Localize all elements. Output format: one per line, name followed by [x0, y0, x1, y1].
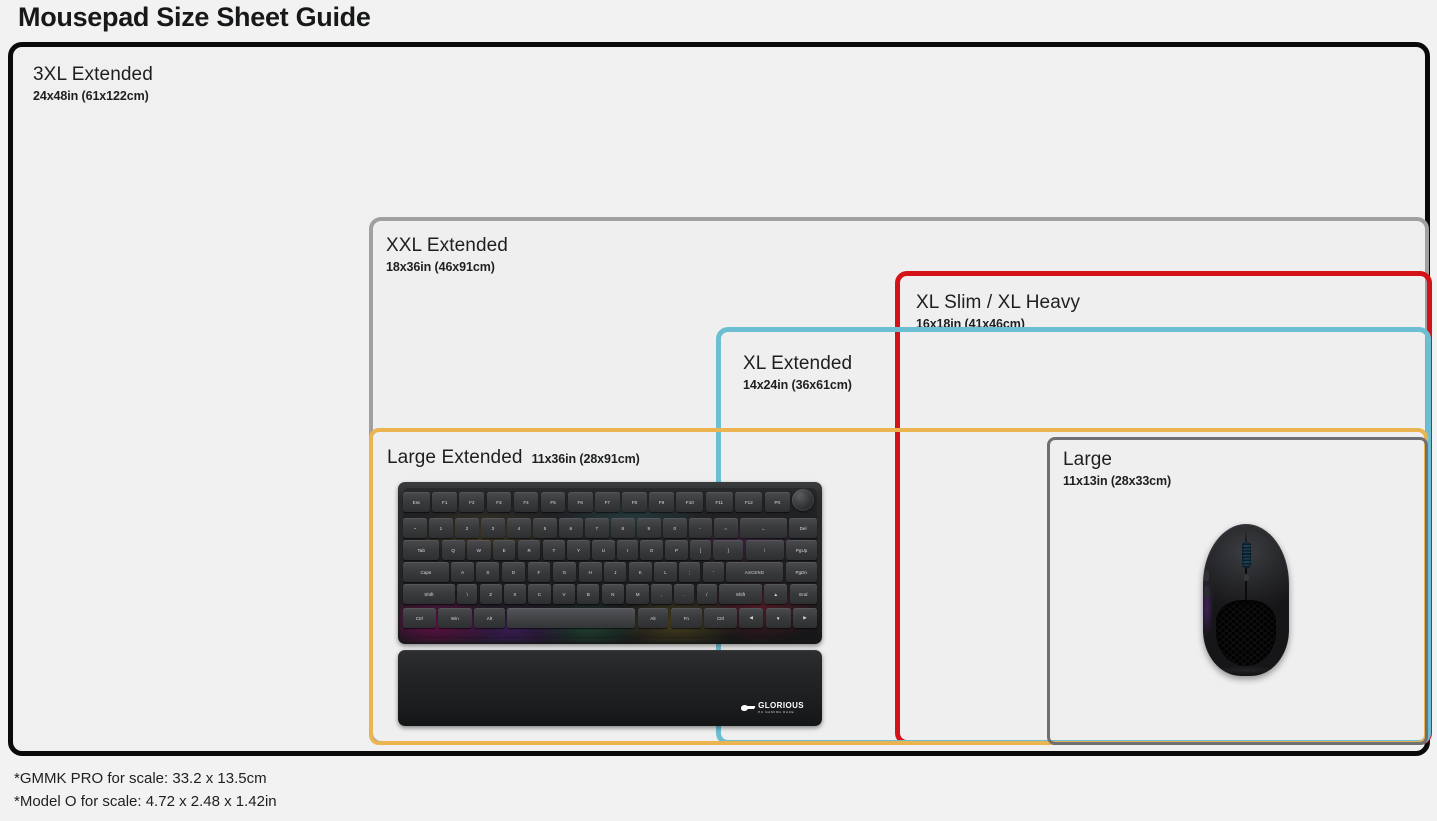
mouse-side-button-back [1204, 586, 1209, 597]
keyboard-key: M [626, 584, 649, 604]
keyboard-key: ; [679, 562, 700, 582]
pad-name-xl-slim-xl-heavy: XL Slim / XL Heavy [916, 293, 1080, 313]
keyboard-body: EscF1F2F3F4F5F6F7F8F9F10F11F12Prt~123456… [398, 482, 822, 644]
wrist-rest: GLORIOUS PC GAMING RACE [398, 650, 822, 726]
keyboard-key: I [617, 540, 638, 560]
pad-dimensions-large-extended: 11x36in (28x91cm) [532, 452, 640, 466]
keyboard-key: S [476, 562, 499, 582]
keyboard-key: Tab [403, 540, 439, 560]
pad-label-large-extended: Large Extended11x36in (28x91cm) [387, 448, 640, 468]
mouse-side-button-forward [1204, 570, 1209, 581]
keyboard-row-2: ~1234567890-=←Del [403, 518, 817, 538]
keyboard-key: PgDn [786, 562, 817, 582]
keyboard-key: U [592, 540, 615, 560]
keyboard-key: ~ [403, 518, 427, 538]
keyboard-key: Caps [403, 562, 449, 582]
keyboard-key: J [604, 562, 626, 582]
keyboard-key: Esc [403, 492, 430, 512]
pad-name-large: Large [1063, 450, 1171, 470]
pad-label-xl-slim-xl-heavy: XL Slim / XL Heavy 16x18in (41x46cm) [916, 293, 1080, 331]
keyboard-key: 3 [481, 518, 505, 538]
keyboard-key: F11 [706, 492, 733, 512]
keyboard-key: 8 [611, 518, 635, 538]
keyboard-key: Del [789, 518, 817, 538]
keyboard-key: F8 [622, 492, 647, 512]
keyboard-key: F12 [735, 492, 762, 512]
keyboard-key: End [790, 584, 817, 604]
pad-name-large-extended: Large Extended [387, 448, 523, 468]
keyboard-key: 7 [585, 518, 609, 538]
mouse-scroll-wheel-icon [1242, 542, 1251, 568]
keyboard-key: O [640, 540, 663, 560]
keyboard-key: Shift [403, 584, 455, 604]
keyboard-key: Win [438, 608, 471, 628]
keyboard-key: A [451, 562, 474, 582]
keyboard-key: Fn [671, 608, 702, 628]
pad-dimensions-large: 11x13in (28x33cm) [1063, 474, 1171, 488]
keyboard-key: F10 [676, 492, 703, 512]
keyboard-key: E [493, 540, 515, 560]
keyboard-key: Alt [474, 608, 505, 628]
keyboard-key: F2 [459, 492, 484, 512]
keyboard-key: 1 [429, 518, 453, 538]
gmmk-pro-keyboard-image: EscF1F2F3F4F5F6F7F8F9F10F11F12Prt~123456… [398, 482, 822, 732]
keyboard-row-5: Shift\ZXCVBNM,./Shift▲End [403, 584, 817, 604]
keyboard-key: ] [713, 540, 743, 560]
mouse-bottom-highlight [1211, 666, 1281, 674]
keyboard-key: - [689, 518, 712, 538]
keyboard-key: H [579, 562, 602, 582]
keyboard-key: , [651, 584, 671, 604]
keyboard-key: Ctrl [704, 608, 737, 628]
keyboard-row-3: TabQWERTYUIOP[]\PgUp [403, 540, 817, 560]
keyboard-key: C [528, 584, 550, 604]
keyboard-key: Ctrl [403, 608, 436, 628]
footnote-keyboard-scale: *GMMK PRO for scale: 33.2 x 13.5cm [14, 768, 277, 791]
keyboard-volume-knob-icon [792, 489, 814, 511]
keyboard-key: Alt [638, 608, 669, 628]
keyboard-key: = [714, 518, 738, 538]
keyboard-key: F9 [649, 492, 674, 512]
keyboard-key: Prt [765, 492, 790, 512]
keyboard-row-4: CapsASDFGHJKL;'ASCENDPgDn [403, 562, 817, 582]
keyboard-key: F1 [432, 492, 457, 512]
pad-name-3xl-extended: 3XL Extended [33, 65, 153, 85]
keyboard-key: F5 [541, 492, 566, 512]
keyboard-key: ← [740, 518, 787, 538]
pad-dimensions-xl-extended: 14x24in (36x61cm) [743, 378, 852, 392]
keyboard-key: Z [480, 584, 502, 604]
keyboard-key: 9 [637, 518, 661, 538]
pad-label-3xl-extended: 3XL Extended 24x48in (61x122cm) [33, 65, 153, 103]
keyboard-key: 0 [663, 518, 687, 538]
keyboard-key [507, 608, 635, 628]
keyboard-key: 6 [559, 518, 583, 538]
pad-dimensions-xxl-extended: 18x36in (46x91cm) [386, 260, 508, 274]
keyboard-key: D [502, 562, 525, 582]
keyboard-key: . [674, 584, 694, 604]
page-title: Mousepad Size Sheet Guide [18, 2, 371, 33]
mouse-honeycomb-shell [1216, 600, 1276, 666]
keyboard-key: Q [442, 540, 465, 560]
keyboard-key: \ [457, 584, 477, 604]
keyboard-key: F7 [595, 492, 620, 512]
keyboard-key: P [665, 540, 687, 560]
keyboard-key: F6 [568, 492, 593, 512]
keyboard-row-1: EscF1F2F3F4F5F6F7F8F9F10F11F12Prt [403, 492, 790, 512]
mouse-dpi-button [1244, 574, 1249, 581]
keyboard-key: PgUp [786, 540, 817, 560]
keyboard-key: W [467, 540, 491, 560]
footnote-mouse-scale: *Model O for scale: 4.72 x 2.48 x 1.42in [14, 791, 277, 814]
keyboard-key: F4 [514, 492, 539, 512]
keyboard-key: K [629, 562, 652, 582]
keyboard-key: T [543, 540, 565, 560]
keyboard-key: 2 [455, 518, 479, 538]
keyboard-key: F [528, 562, 551, 582]
keyboard-key: ◀ [739, 608, 763, 628]
pad-dimensions-3xl-extended: 24x48in (61x122cm) [33, 89, 153, 103]
pad-label-xxl-extended: XXL Extended 18x36in (46x91cm) [386, 236, 508, 274]
footnotes: *GMMK PRO for scale: 33.2 x 13.5cm *Mode… [14, 768, 277, 814]
pad-label-xl-extended: XL Extended 14x24in (36x61cm) [743, 354, 852, 392]
keyboard-key: 5 [533, 518, 557, 538]
keyboard-row-6: CtrlWinAltAltFnCtrl◀▼▶ [403, 608, 817, 628]
pad-name-xxl-extended: XXL Extended [386, 236, 508, 256]
keyboard-key: ASCEND [726, 562, 783, 582]
keyboard-key: L [654, 562, 677, 582]
keyboard-key: ' [703, 562, 724, 582]
keyboard-key: F3 [487, 492, 512, 512]
keyboard-key: Shift [719, 584, 761, 604]
keyboard-key: [ [690, 540, 711, 560]
pad-label-large: Large 11x13in (28x33cm) [1063, 450, 1171, 488]
keyboard-key: Y [567, 540, 589, 560]
glorious-mark-icon [741, 703, 755, 712]
glorious-logo-tagline: PC GAMING RACE [758, 711, 804, 714]
keyboard-key: V [553, 584, 575, 604]
keyboard-key: X [504, 584, 526, 604]
glorious-logo-text: GLORIOUS [758, 702, 804, 710]
pad-name-xl-extended: XL Extended [743, 354, 852, 374]
keyboard-key: 4 [507, 518, 531, 538]
glorious-logo: GLORIOUS PC GAMING RACE [741, 702, 804, 714]
keyboard-key: ▼ [766, 608, 791, 628]
keyboard-key: ▲ [764, 584, 787, 604]
keyboard-key: G [553, 562, 577, 582]
keyboard-key: ▶ [793, 608, 817, 628]
keyboard-key: B [577, 584, 599, 604]
keyboard-key: \ [746, 540, 784, 560]
model-o-mouse-image [1203, 524, 1289, 676]
keyboard-key: R [518, 540, 541, 560]
keyboard-key: N [602, 584, 624, 604]
keyboard-key: / [697, 584, 717, 604]
